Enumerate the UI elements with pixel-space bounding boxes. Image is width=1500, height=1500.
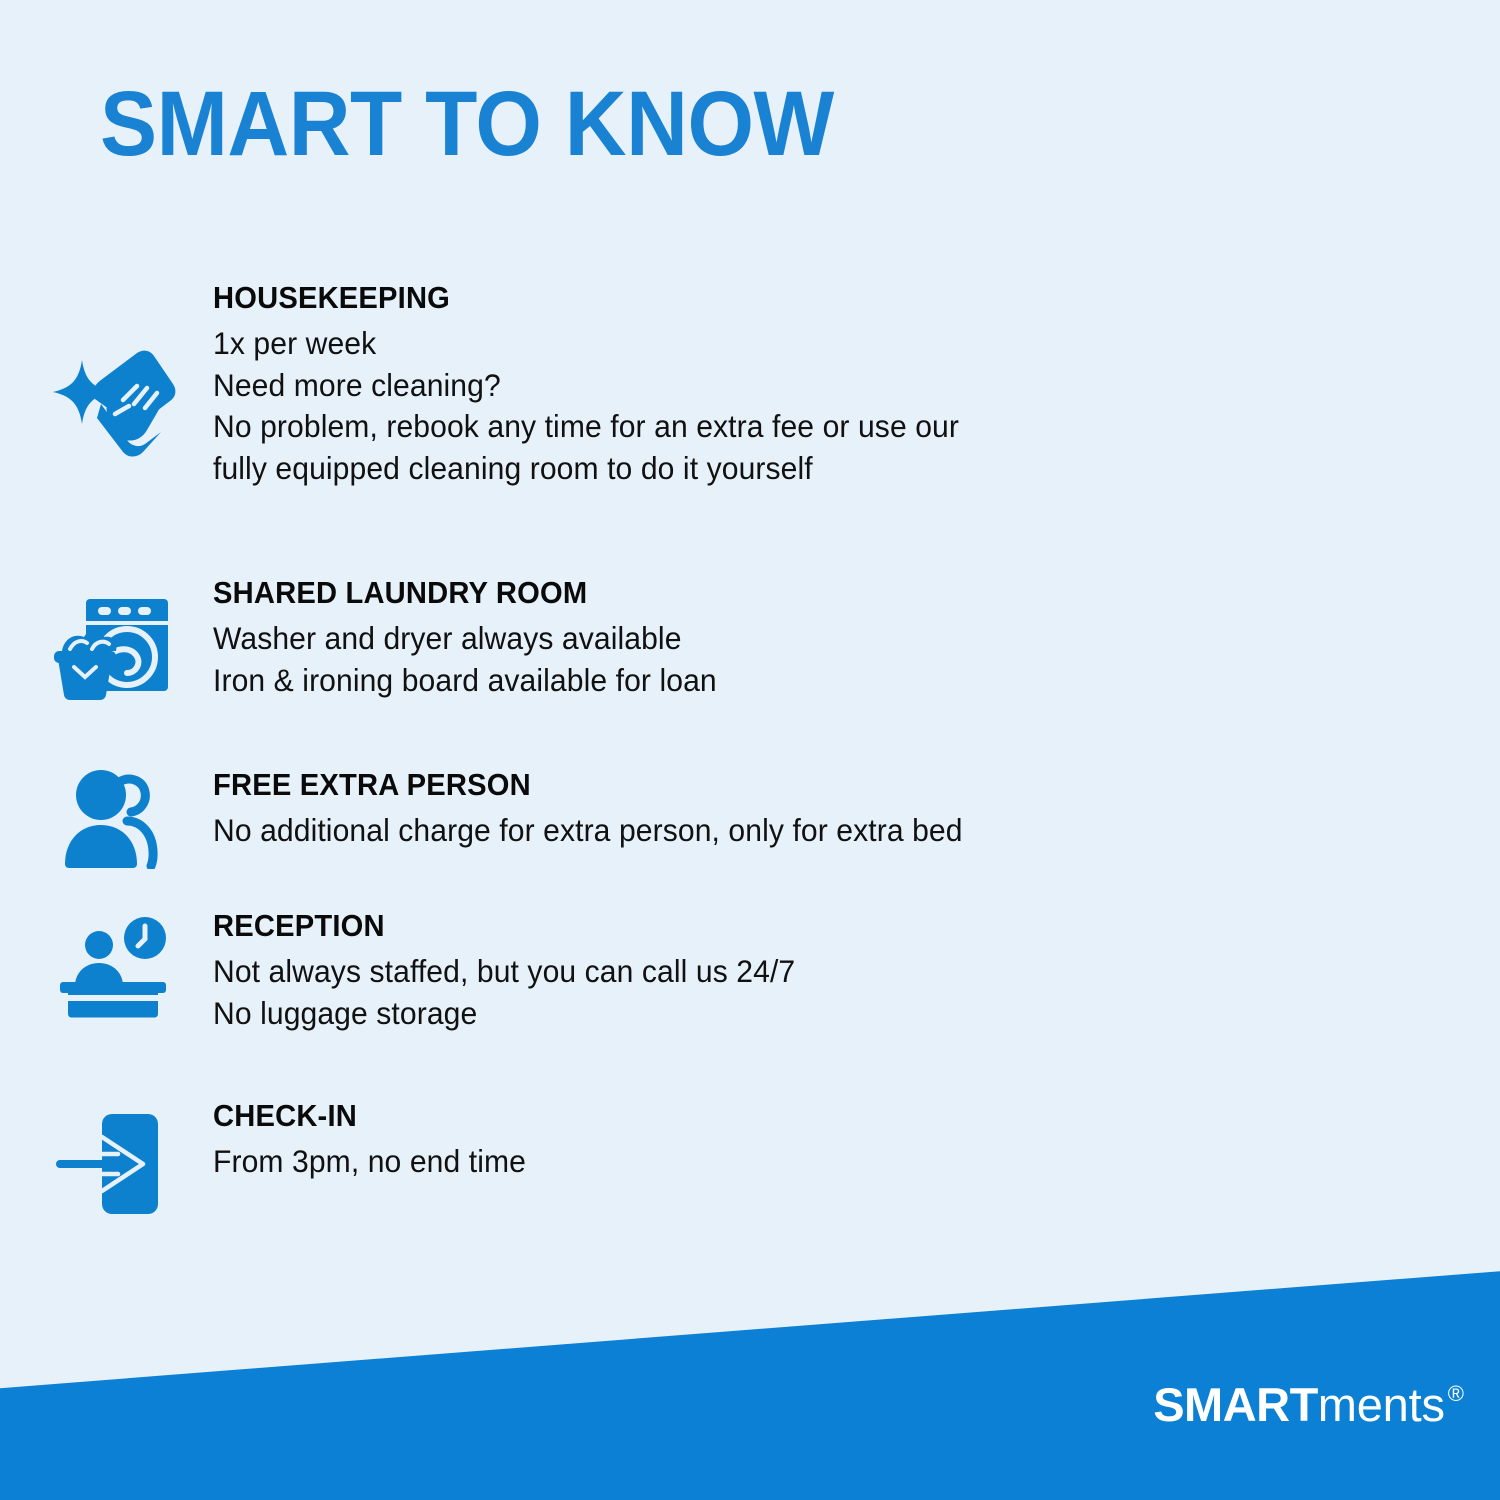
section-line: Iron & ironing board available for loan <box>213 660 717 702</box>
list-item-reception: RECEPTION Not always staffed, but you ca… <box>0 904 1500 1034</box>
list-item-text: HOUSEKEEPING 1x per week Need more clean… <box>213 276 994 490</box>
section-line: Not always staffed, but you can call us … <box>213 951 795 993</box>
cleaning-hand-sparkle-icon <box>0 276 213 462</box>
list-item-check-in: CHECK-IN From 3pm, no end time <box>0 1094 1500 1218</box>
list-item-text: RECEPTION Not always staffed, but you ca… <box>213 904 823 1034</box>
page-title: SMART TO KNOW <box>100 78 834 170</box>
section-line: fully equipped cleaning room to do it yo… <box>213 448 959 490</box>
section-heading: CHECK-IN <box>213 1096 521 1136</box>
list-item-text: CHECK-IN From 3pm, no end time <box>213 1094 541 1183</box>
list-item-shared-laundry-room: SHARED LAUNDRY ROOM Washer and dryer alw… <box>0 571 1500 703</box>
list-item-text: SHARED LAUNDRY ROOM Washer and dryer alw… <box>213 571 740 701</box>
footer-band: SMART ments ® <box>0 1240 1500 1500</box>
section-line: Need more cleaning? <box>213 365 959 407</box>
poster: SMART TO KNOW <box>0 0 1500 1500</box>
section-heading: SHARED LAUNDRY ROOM <box>213 573 709 613</box>
section-line: From 3pm, no end time <box>213 1141 526 1183</box>
smartments-logo: SMART ments ® <box>1153 1381 1464 1428</box>
section-line: No problem, rebook any time for an extra… <box>213 406 959 448</box>
door-arrow-entry-icon <box>0 1094 213 1218</box>
section-line: Washer and dryer always available <box>213 618 717 660</box>
section-heading: HOUSEKEEPING <box>213 278 947 318</box>
logo-light-text: ments <box>1318 1381 1445 1428</box>
washing-machine-basket-icon <box>0 571 213 703</box>
section-heading: FREE EXTRA PERSON <box>213 765 951 805</box>
list-item-text: FREE EXTRA PERSON No additional charge f… <box>213 763 998 852</box>
registered-trademark-icon: ® <box>1448 1383 1464 1405</box>
section-heading: RECEPTION <box>213 906 786 946</box>
list-item-housekeeping: HOUSEKEEPING 1x per week Need more clean… <box>0 276 1500 490</box>
two-people-icon <box>0 763 213 869</box>
reception-desk-clock-icon <box>0 904 213 1020</box>
section-line: No additional charge for extra person, o… <box>213 810 963 852</box>
section-line: 1x per week <box>213 323 959 365</box>
list-item-free-extra-person: FREE EXTRA PERSON No additional charge f… <box>0 763 1500 869</box>
section-line: No luggage storage <box>213 993 795 1035</box>
logo-bold-text: SMART <box>1153 1381 1318 1428</box>
